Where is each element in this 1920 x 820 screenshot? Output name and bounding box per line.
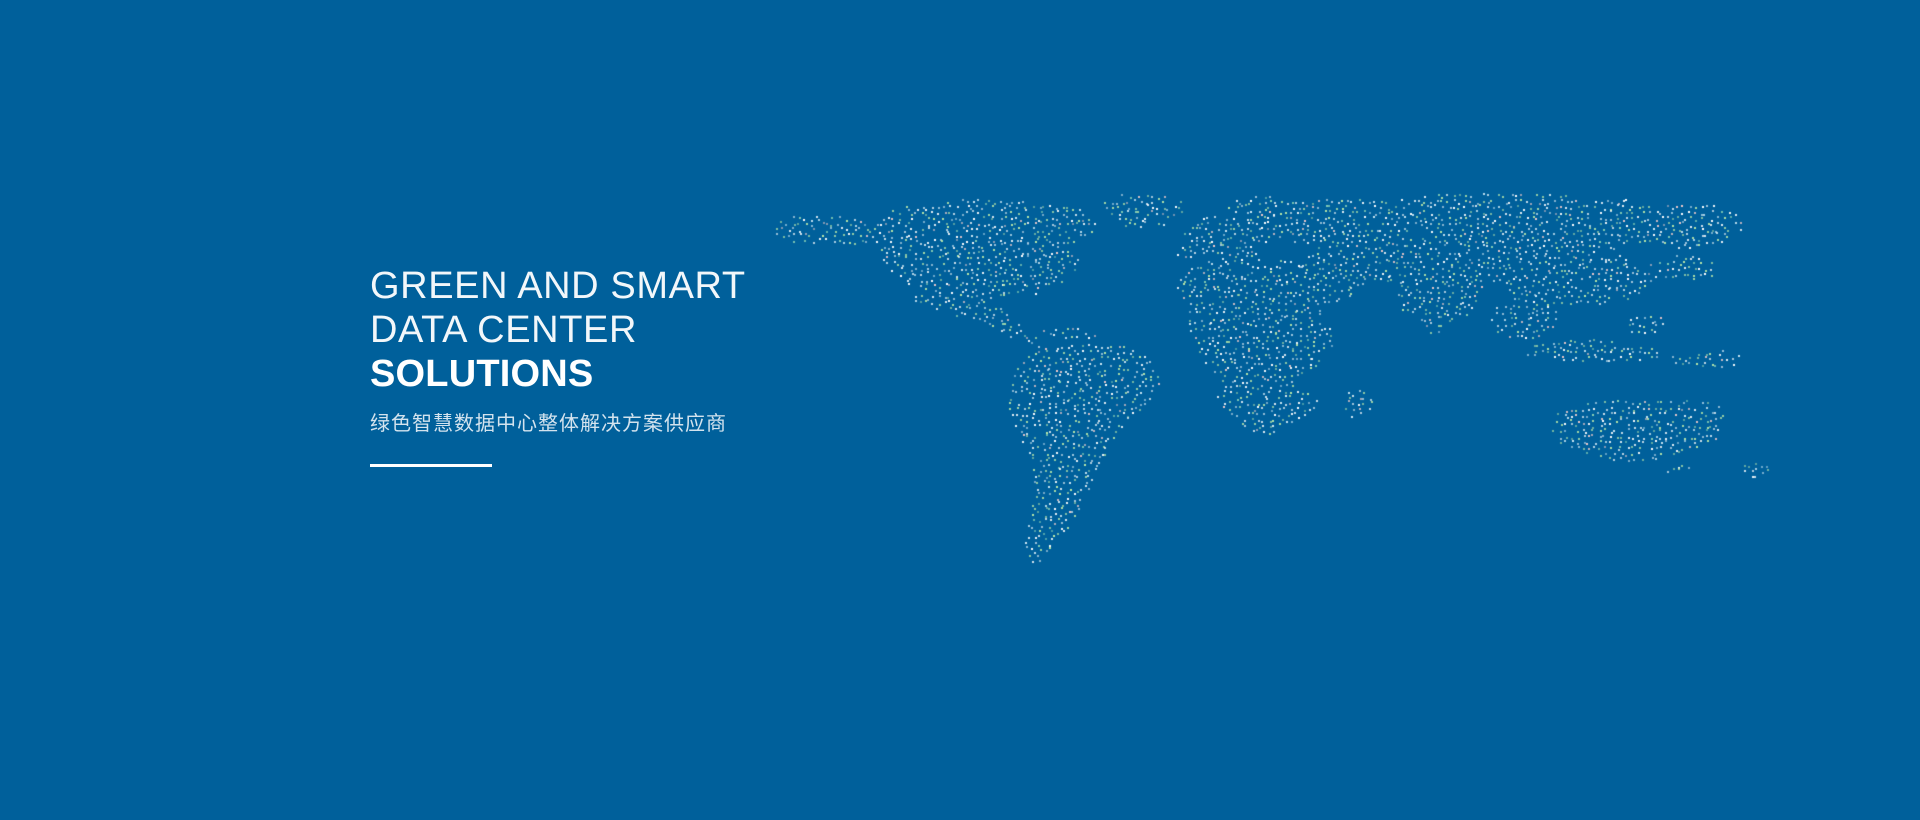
- hero-text-block: GREEN AND SMART DATA CENTER SOLUTIONS 绿色…: [370, 264, 1130, 467]
- headline-line-3: SOLUTIONS: [370, 352, 1130, 396]
- hero-subtitle: 绿色智慧数据中心整体解决方案供应商: [370, 410, 1130, 438]
- hero-divider: [370, 464, 492, 467]
- headline-line-2: DATA CENTER: [370, 308, 1130, 352]
- headline-line-1: GREEN AND SMART: [370, 264, 1130, 308]
- hero-banner: GREEN AND SMART DATA CENTER SOLUTIONS 绿色…: [0, 0, 1920, 820]
